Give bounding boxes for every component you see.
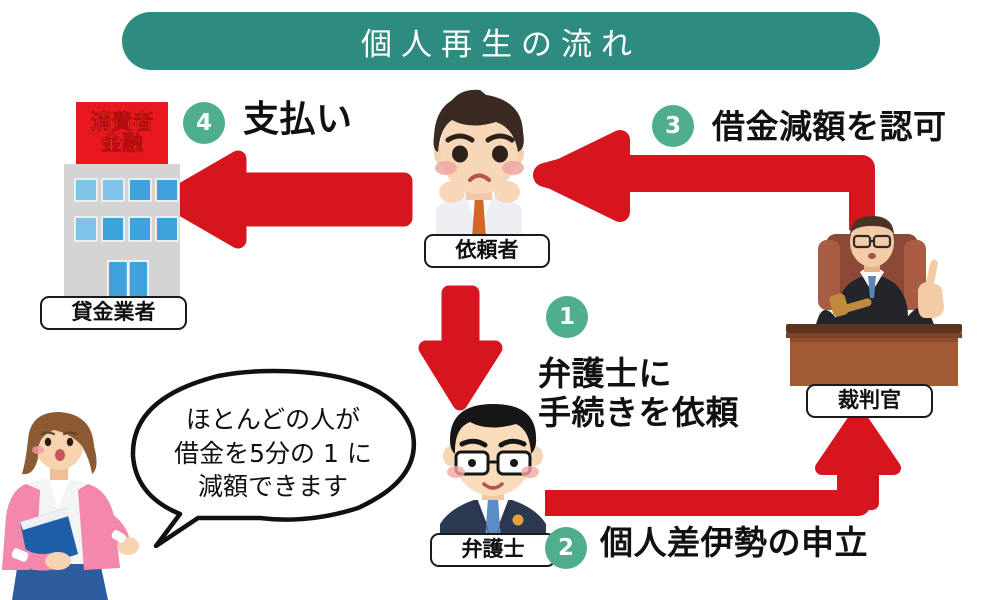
building-window (128, 216, 152, 242)
speech-bubble-text: ほとんどの人が 借金を5分の 1 に 減額できます (128, 368, 418, 540)
step-caption-1-line-2: 手続きを依頼 (538, 394, 739, 433)
step-badge-4: 4 (183, 102, 225, 144)
building-window (155, 178, 179, 202)
judge-bench-gavel-icon (778, 198, 968, 388)
step-caption-3: 借金減額を認可 (712, 108, 947, 147)
arrow-step-1-request (426, 293, 495, 403)
step-badge-2: 2 (545, 527, 587, 569)
woman-holding-book-icon (0, 412, 140, 600)
building-window (74, 178, 98, 202)
building-window (101, 178, 125, 202)
step-badge-3: 3 (652, 105, 694, 147)
building-window (128, 178, 152, 202)
arrow-step-4-payment (168, 159, 404, 240)
step-caption-1: 弁護士に 手続きを依頼 (538, 355, 739, 433)
step-badge-1: 1 (546, 296, 588, 338)
label-lender: 貸金業者 (40, 296, 187, 330)
label-judge: 裁判官 (806, 384, 933, 418)
bubble-line-3: 減額できます (198, 472, 348, 503)
consumer-finance-sign: 消費者 金融 (76, 102, 168, 164)
building-window (155, 216, 179, 242)
sign-line-2: 金融 (101, 133, 143, 154)
label-client: 依頼者 (424, 234, 550, 268)
bubble-line-1: ほとんどの人が (186, 405, 360, 436)
lender-building-icon: 消費者 金融 (58, 102, 183, 297)
building-door (107, 260, 149, 299)
building-body (64, 164, 180, 297)
speech-bubble: ほとんどの人が 借金を5分の 1 に 減額できます (128, 368, 418, 548)
building-window (101, 216, 125, 242)
label-lawyer: 弁護士 (430, 533, 556, 567)
step-caption-1-line-1: 弁護士に (538, 355, 739, 394)
step-caption-2: 個人差伊勢の申立 (600, 524, 868, 563)
step-caption-4: 支払い (243, 99, 353, 141)
infographic-canvas: 個人再生の流れ 消費者 金融 (0, 0, 1000, 600)
building-window (74, 216, 98, 242)
client-worried-man-icon (418, 88, 540, 238)
sign-line-1: 消費者 (91, 112, 154, 133)
bubble-line-2: 借金を5分の 1 に (174, 439, 372, 470)
